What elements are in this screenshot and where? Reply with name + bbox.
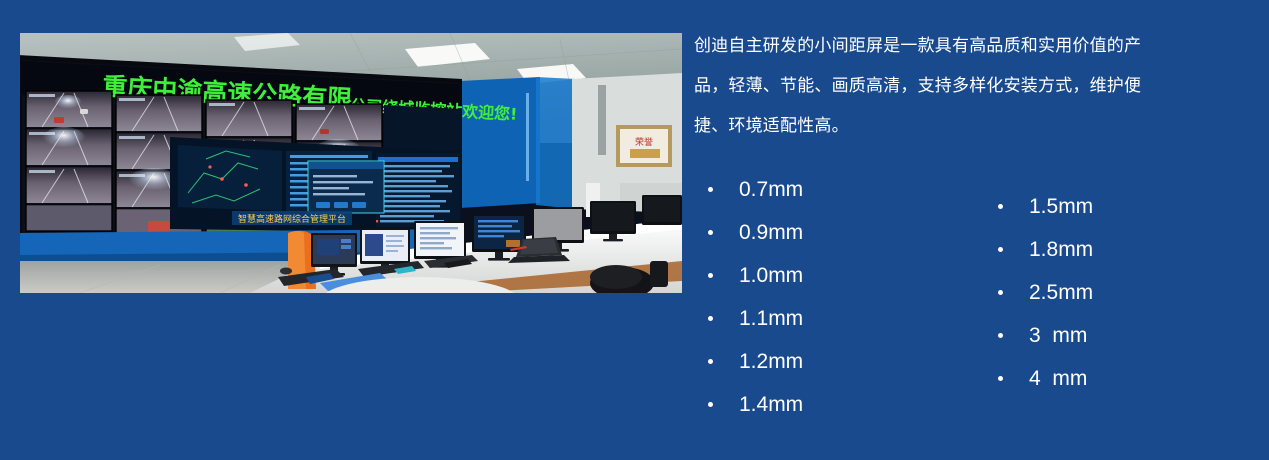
bullet-icon (998, 376, 1003, 381)
list-item: 1.5mm (984, 185, 1254, 228)
pitch-label: 0.7mm (739, 178, 803, 202)
bullet-icon (998, 204, 1003, 209)
control-room-photo: 荣誉 重庆中渝高速公路有限 公司绕城监控站欢迎您! (20, 33, 682, 293)
description-line-2: 品，轻薄、节能、画质高清，支持多样化安装方式，维护便 (694, 66, 1250, 106)
pitch-label: 2.5mm (1029, 281, 1093, 305)
list-item: 1.1mm (694, 297, 984, 340)
list-item: 1.0mm (694, 254, 984, 297)
bullet-icon (708, 273, 713, 278)
pitch-label: 1.0mm (739, 264, 803, 288)
list-item: 1.4mm (694, 383, 984, 426)
bullet-icon (998, 333, 1003, 338)
list-item: 0.9mm (694, 211, 984, 254)
bullet-icon (708, 359, 713, 364)
list-item: 2.5mm (984, 271, 1254, 314)
bullet-icon (708, 230, 713, 235)
slide-root: 荣誉 重庆中渝高速公路有限 公司绕城监控站欢迎您! (0, 0, 1269, 460)
bullet-icon (708, 402, 713, 407)
pitch-label: 1.5mm (1029, 195, 1093, 219)
pixel-pitch-lists: 0.7mm 0.9mm 1.0mm 1.1mm 1.2mm 1.4mm (694, 168, 1254, 426)
list-item: 1.2mm (694, 340, 984, 383)
pitch-label: 1.1mm (739, 307, 803, 331)
bullet-icon (998, 247, 1003, 252)
pitch-label: 1.4mm (739, 393, 803, 417)
pitch-label: 0.9mm (739, 221, 803, 245)
list-item: 4 mm (984, 357, 1254, 400)
pitch-label: 4 mm (1029, 367, 1087, 391)
screen-caption-text: 智慧高速路网综合管理平台 (238, 213, 346, 225)
pitch-label: 3 mm (1029, 324, 1087, 348)
pitch-label: 1.2mm (739, 350, 803, 374)
description-line-1: 创迪自主研发的小间距屏是一款具有高品质和实用价值的产 (694, 26, 1250, 66)
pitch-list-right-column: 1.5mm 1.8mm 2.5mm 3 mm 4 mm (984, 168, 1254, 426)
bullet-icon (708, 187, 713, 192)
pitch-list-left-column: 0.7mm 0.9mm 1.0mm 1.1mm 1.2mm 1.4mm (694, 168, 984, 426)
bullet-icon (998, 290, 1003, 295)
pitch-label: 1.8mm (1029, 238, 1093, 262)
bullet-icon (708, 316, 713, 321)
description-line-3: 捷、环境适配性高。 (694, 106, 1250, 146)
list-item: 3 mm (984, 314, 1254, 357)
description-block: 创迪自主研发的小间距屏是一款具有高品质和实用价值的产 品，轻薄、节能、画质高清，… (694, 26, 1250, 146)
svg-text:荣誉: 荣誉 (635, 136, 653, 148)
list-item: 0.7mm (694, 168, 984, 211)
list-item: 1.8mm (984, 228, 1254, 271)
